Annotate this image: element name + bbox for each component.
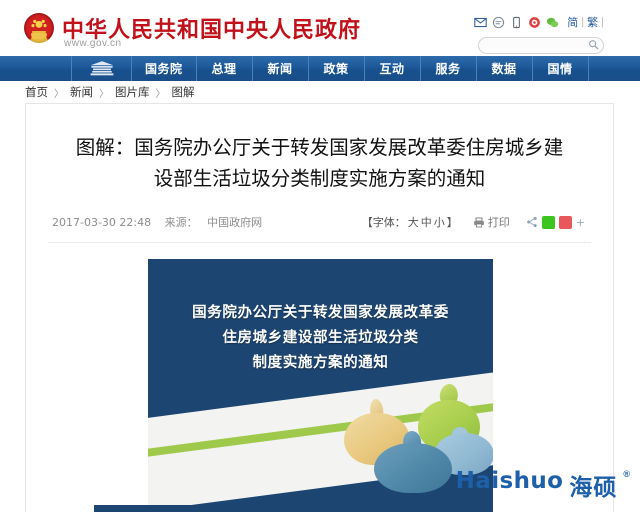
print-label: 打印: [488, 214, 510, 230]
nav-item-5[interactable]: 服务: [421, 56, 477, 81]
printer-icon: [473, 217, 485, 228]
font-size-control: 【字体：大中小】: [361, 214, 459, 230]
watermark: Haishuo 海硕 ®: [456, 468, 630, 502]
infographic-bottom-bar: [94, 505, 309, 512]
trash-bag-blue: [374, 431, 452, 493]
site-header: 中华人民共和国中央人民政府 www.gov.cn: [0, 0, 640, 56]
infographic-text: 国务院办公厅关于转发国家发展改革委 住房城乡建设部生活垃圾分类 制度实施方案的通…: [148, 301, 493, 376]
page-title: 图解：国务院办公厅关于转发国家发展改革委住房城乡建设部生活垃圾分类制度实施方案的…: [74, 132, 565, 194]
source-name: 中国政府网: [207, 216, 262, 229]
nav-item-3[interactable]: 政策: [309, 56, 365, 81]
lang-separator: |: [581, 16, 584, 28]
nav-item-6[interactable]: 数据: [477, 56, 533, 81]
font-size-large[interactable]: 大: [408, 216, 419, 229]
infographic-line-3: 制度实施方案的通知: [148, 351, 493, 376]
share-group: +: [526, 216, 585, 229]
watermark-en: Haishuo: [456, 468, 564, 494]
weibo-icon[interactable]: [528, 16, 541, 29]
breadcrumb-separator-1: 〉: [99, 85, 109, 100]
font-ctl-prefix: 【字体：: [362, 216, 406, 229]
nav-item-0[interactable]: 国务院: [132, 56, 197, 81]
nav-item-7[interactable]: 国情: [533, 56, 589, 81]
language-switcher: 简 | 繁 |: [567, 14, 604, 30]
article-tools: 【字体：大中小】 打印: [361, 214, 585, 230]
meta-divider: [48, 242, 591, 243]
page-root: 中华人民共和国中央人民政府 www.gov.cn: [0, 0, 640, 512]
source-label: 来源：: [165, 216, 198, 229]
mail-icon[interactable]: [474, 16, 487, 29]
infographic-canvas: 国务院办公厅关于转发国家发展改革委 住房城乡建设部生活垃圾分类 制度实施方案的通…: [148, 259, 493, 512]
main-navigation: 国务院 总理 新闻 政策 互动 服务 数据 国情: [0, 56, 640, 81]
nav-item-2[interactable]: 新闻: [253, 56, 309, 81]
font-size-small[interactable]: 小: [434, 216, 445, 229]
site-url: www.gov.cn: [64, 38, 122, 49]
nav-left-spacer: [0, 56, 72, 81]
national-emblem-icon: [24, 13, 54, 43]
breadcrumb-separator-2: 〉: [156, 85, 166, 100]
watermark-registered: ®: [623, 469, 630, 479]
breadcrumb-item-3[interactable]: 图解: [172, 84, 195, 100]
wechat-share-icon[interactable]: [542, 216, 555, 229]
article-meta-row: 2017-03-30 22:48 来源： 中国政府网 【字体：大中小】 打印: [48, 214, 591, 234]
breadcrumb: 首页 〉 新闻 〉 图片库 〉 图解: [25, 84, 195, 100]
watermark-cn: 海硕: [569, 468, 617, 502]
trash-bag-blue-body: [374, 443, 452, 493]
lang-traditional-link[interactable]: 繁: [587, 14, 598, 30]
share-more-button[interactable]: +: [576, 216, 585, 229]
wechat-icon[interactable]: [546, 16, 559, 29]
nav-home-button[interactable]: [72, 56, 132, 81]
share-icon[interactable]: [526, 216, 538, 228]
search-input[interactable]: [478, 37, 604, 54]
infographic-line-1: 国务院办公厅关于转发国家发展改革委: [148, 301, 493, 326]
lang-separator-2: |: [601, 16, 604, 28]
search-box: [478, 35, 604, 52]
mobile-icon[interactable]: [510, 16, 523, 29]
article-meta-left: 2017-03-30 22:48 来源： 中国政府网: [52, 214, 262, 230]
infographic-line-2: 住房城乡建设部生活垃圾分类: [148, 326, 493, 351]
nav-item-4[interactable]: 互动: [365, 56, 421, 81]
breadcrumb-item-0[interactable]: 首页: [25, 84, 48, 100]
nav-item-1[interactable]: 总理: [197, 56, 253, 81]
nav-right-spacer: [589, 56, 640, 81]
article-panel: 图解：国务院办公厅关于转发国家发展改革委住房城乡建设部生活垃圾分类制度实施方案的…: [25, 103, 614, 512]
font-ctl-suffix: 】: [447, 216, 458, 229]
search-icon[interactable]: [588, 38, 599, 49]
breadcrumb-item-2[interactable]: 图片库: [115, 84, 150, 100]
font-size-medium[interactable]: 中: [421, 216, 432, 229]
breadcrumb-separator-0: 〉: [54, 85, 64, 100]
publish-date: 2017-03-30 22:48: [52, 216, 151, 229]
weibo-share-icon[interactable]: [559, 216, 572, 229]
breadcrumb-item-1[interactable]: 新闻: [70, 84, 93, 100]
rss-chat-icon[interactable]: [492, 16, 505, 29]
gov-building-icon: [89, 61, 115, 76]
header-icon-bar: 简 | 繁 |: [474, 14, 604, 30]
print-button[interactable]: 打印: [473, 214, 510, 230]
lang-simplified-link[interactable]: 简: [567, 14, 578, 30]
infographic-image[interactable]: 国务院办公厅关于转发国家发展改革委 住房城乡建设部生活垃圾分类 制度实施方案的通…: [148, 259, 493, 512]
